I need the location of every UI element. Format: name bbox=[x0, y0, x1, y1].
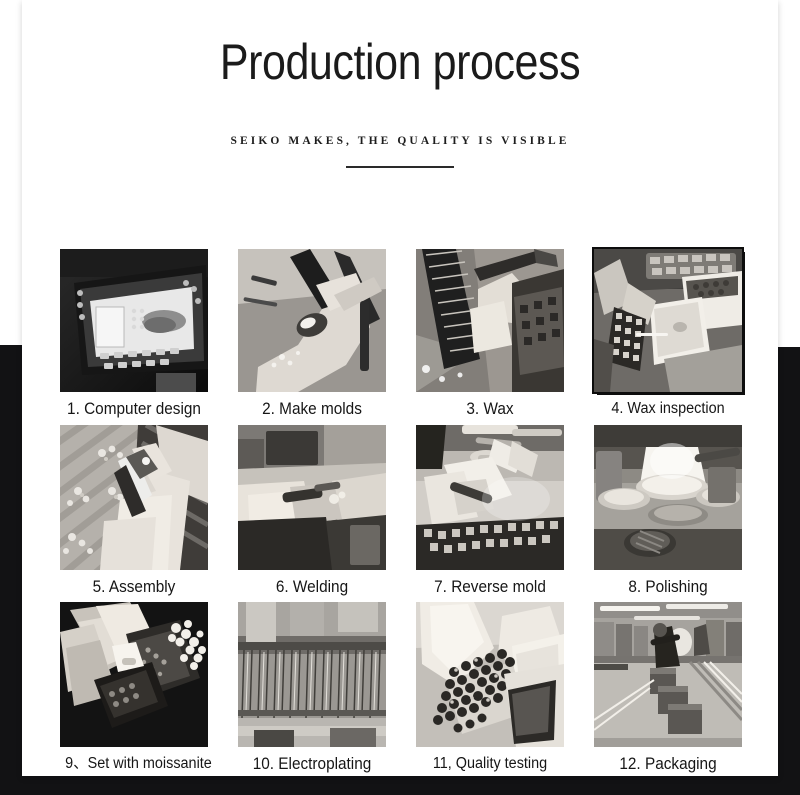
process-row-1: 1. Computer design bbox=[60, 249, 742, 418]
content-card: Production process SEIKO MAKES, THE QUAL… bbox=[22, 0, 778, 776]
process-step-2[interactable]: 2. Make molds bbox=[238, 249, 386, 418]
process-step-7[interactable]: 7. Reverse mold bbox=[416, 425, 564, 596]
step-thumbnail-reverse-mold[interactable] bbox=[416, 425, 564, 570]
step-caption: 9、Set with moissanite bbox=[65, 747, 203, 772]
step-caption: 5. Assembly bbox=[65, 570, 203, 596]
page-subtitle: SEIKO MAKES, THE QUALITY IS VISIBLE bbox=[22, 135, 778, 147]
process-step-3[interactable]: 3. Wax bbox=[416, 249, 564, 418]
step-thumbnail-polishing[interactable] bbox=[594, 425, 742, 570]
step-caption: 1. Computer design bbox=[65, 392, 203, 418]
step-thumbnail-wax-inspection[interactable] bbox=[594, 249, 742, 392]
header: Production process SEIKO MAKES, THE QUAL… bbox=[22, 0, 778, 168]
process-row-3: 9、Set with moissanite bbox=[60, 602, 742, 773]
step-thumbnail-electroplating[interactable] bbox=[238, 602, 386, 747]
step-thumbnail-computer-design[interactable] bbox=[60, 249, 208, 392]
step-caption: 12. Packaging bbox=[599, 747, 737, 773]
step-caption: 3. Wax bbox=[421, 392, 559, 418]
process-row-2: 5. Assembly bbox=[60, 425, 742, 596]
process-steps-grid: 1. Computer design bbox=[60, 249, 742, 780]
title-divider bbox=[346, 166, 454, 168]
step-thumbnail-assembly[interactable] bbox=[60, 425, 208, 570]
step-caption: 8. Polishing bbox=[599, 570, 737, 596]
step-thumbnail-packaging[interactable] bbox=[594, 602, 742, 747]
process-step-10[interactable]: 10. Electroplating bbox=[238, 602, 386, 773]
step-caption: 11, Quality testing bbox=[421, 747, 559, 772]
step-caption: 4. Wax inspection bbox=[599, 392, 737, 417]
step-thumbnail-make-molds[interactable] bbox=[238, 249, 386, 392]
step-thumbnail-wax[interactable] bbox=[416, 249, 564, 392]
process-step-8[interactable]: 8. Polishing bbox=[594, 425, 742, 596]
process-step-12[interactable]: 12. Packaging bbox=[594, 602, 742, 773]
step-caption: 6. Welding bbox=[243, 570, 381, 596]
process-step-5[interactable]: 5. Assembly bbox=[60, 425, 208, 596]
process-step-9[interactable]: 9、Set with moissanite bbox=[60, 602, 208, 773]
step-caption: 2. Make molds bbox=[243, 392, 381, 418]
process-step-1[interactable]: 1. Computer design bbox=[60, 249, 208, 418]
process-step-4[interactable]: 4. Wax inspection bbox=[594, 249, 742, 418]
step-caption: 10. Electroplating bbox=[243, 747, 381, 773]
step-thumbnail-welding[interactable] bbox=[238, 425, 386, 570]
step-thumbnail-quality-testing[interactable] bbox=[416, 602, 564, 747]
step-caption: 7. Reverse mold bbox=[421, 570, 559, 596]
step-thumbnail-set-with-moissanite[interactable] bbox=[60, 602, 208, 747]
process-step-6[interactable]: 6. Welding bbox=[238, 425, 386, 596]
process-step-11[interactable]: 11, Quality testing bbox=[416, 602, 564, 773]
page-title: Production process bbox=[75, 36, 725, 89]
